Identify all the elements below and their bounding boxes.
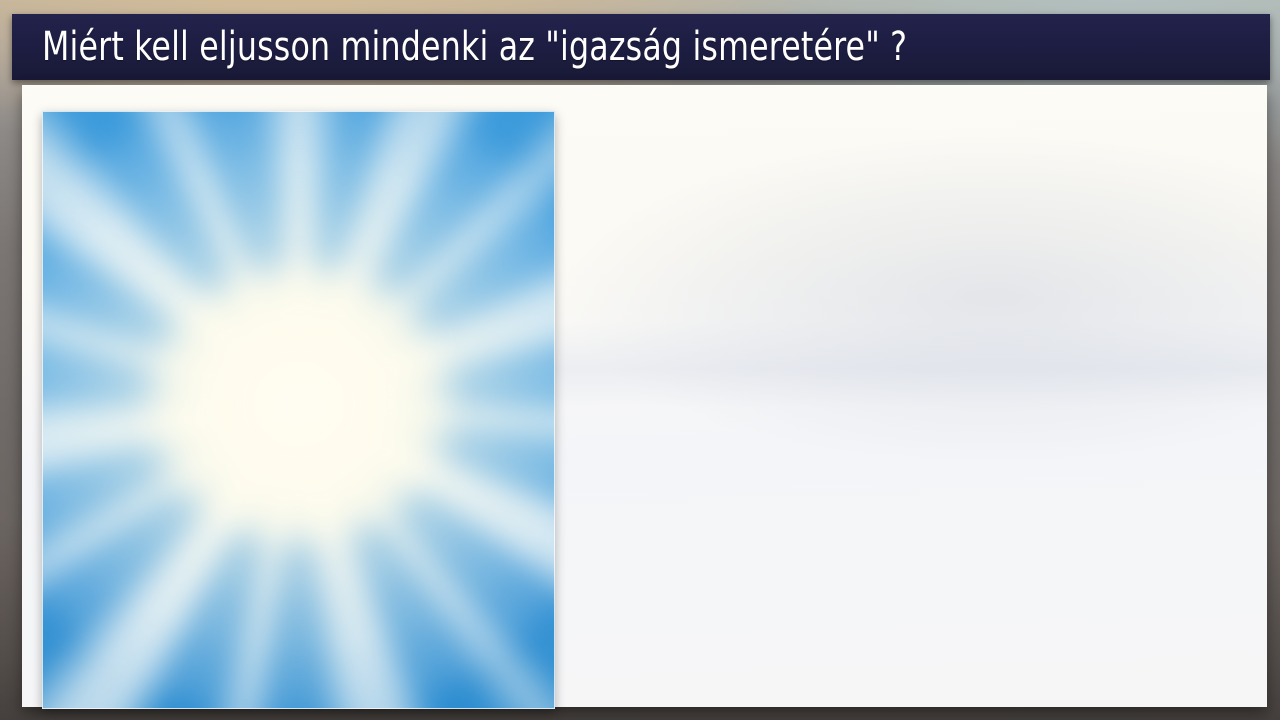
slide-title-bar: Miért kell eljusson mindenki az "igazság… xyxy=(12,14,1270,80)
slide-body-text xyxy=(567,111,1257,709)
slide-title: Miért kell eljusson mindenki az "igazság… xyxy=(42,24,907,70)
sunburst-graphic xyxy=(42,111,555,709)
slide-content-area xyxy=(22,85,1267,707)
sunburst-image xyxy=(42,111,555,709)
presentation-slide: Miért kell eljusson mindenki az "igazság… xyxy=(12,14,1270,708)
sun-core-glow xyxy=(149,269,449,539)
